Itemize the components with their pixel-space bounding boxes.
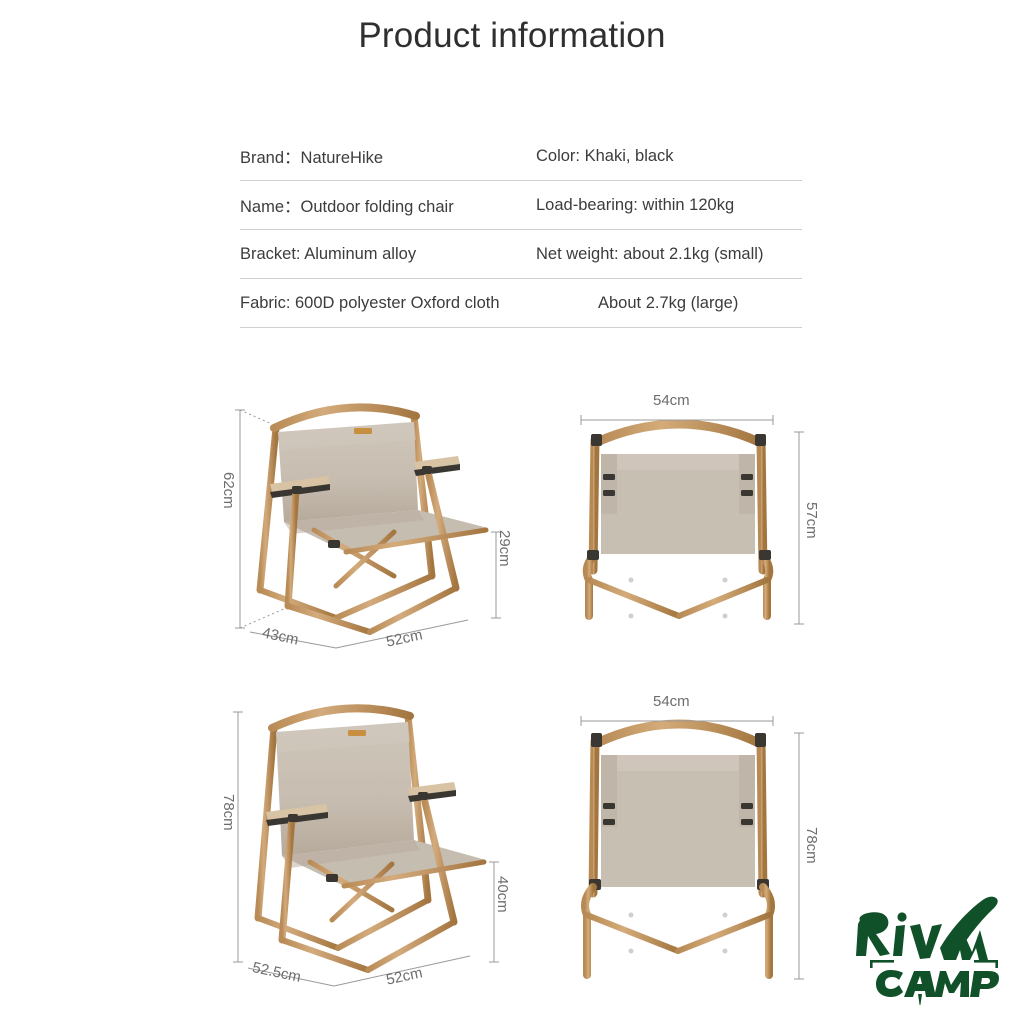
dimension-height: 78cm [220,794,237,831]
spec-net-weight-large: About 2.7kg (large) [536,294,802,313]
spec-net-weight: Net weight: about 2.1kg (small) [536,245,802,264]
dimension-seat-height: 29cm [496,530,513,567]
dimension-seat-height: 40cm [494,876,511,913]
table-row: Brand：NatureHike Color: Khaki, black [240,132,802,181]
product-spec-table: Brand：NatureHike Color: Khaki, black Nam… [240,132,802,328]
spec-bracket: Bracket: Aluminum alloy [240,245,536,264]
dimension-height: 57cm [803,502,820,539]
table-row: Fabric: 600D polyester Oxford cloth Abou… [240,279,802,328]
figure-small-chair-folded: 54cm 57cm [555,380,835,660]
figure-large-chair-folded: 54cm 78cm [555,675,835,1000]
spec-brand: Brand：NatureHike [240,144,536,168]
brand-logo-rivan-camp [852,890,1017,1005]
page-title: Product information [0,16,1024,56]
spec-load-bearing: Load-bearing: within 120kg [536,196,802,215]
table-row: Name：Outdoor folding chair Load-bearing:… [240,181,802,230]
spec-fabric: Fabric: 600D polyester Oxford cloth [240,294,536,313]
dimension-height: 62cm [220,472,237,509]
spec-color: Color: Khaki, black [536,147,802,166]
dimension-width: 54cm [653,693,690,710]
dimension-height: 78cm [803,827,820,864]
table-row: Bracket: Aluminum alloy Net weight: abou… [240,230,802,279]
dimension-width: 54cm [653,392,690,409]
figure-small-chair-open: 62cm 29cm 43cm 52cm [218,380,518,660]
figure-large-chair-open: 78cm 40cm 52.5cm 52cm [218,690,518,1000]
spec-name: Name：Outdoor folding chair [240,193,536,217]
